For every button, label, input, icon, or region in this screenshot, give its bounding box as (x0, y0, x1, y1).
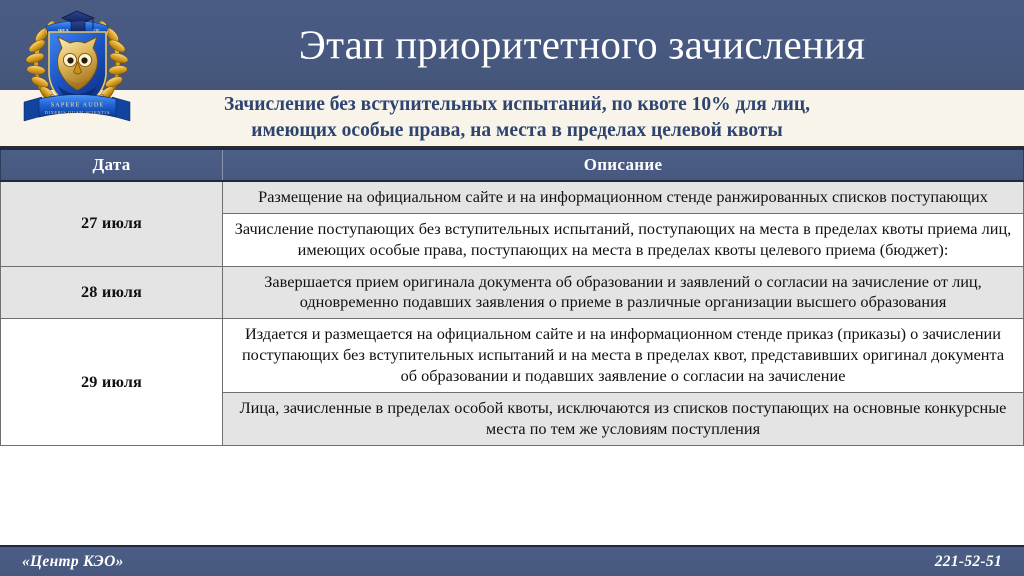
cell-description: Лица, зачисленные в пределах особой квот… (223, 392, 1024, 445)
subtitle-band: Зачисление без вступительных испытаний, … (0, 90, 1024, 148)
cell-description: Издается и размещается на официальном са… (223, 319, 1024, 393)
crest-motto-primary: SAPERE AUDE (51, 102, 105, 109)
table-row: 27 июляРазмещение на официальном сайте и… (1, 181, 1024, 213)
schedule-table-container: Дата Описание 27 июляРазмещение на офици… (0, 148, 1024, 545)
slide-header: ΨΙΛ ΣΕ (0, 0, 1024, 90)
cell-description: Зачисление поступающих без вступительных… (223, 213, 1024, 266)
cell-date: 28 июля (1, 266, 223, 319)
cell-description: Завершается прием оригинала документа об… (223, 266, 1024, 319)
table-head: Дата Описание (1, 149, 1024, 181)
column-header-date: Дата (1, 149, 223, 181)
column-header-description: Описание (223, 149, 1024, 181)
schedule-table: Дата Описание 27 июляРазмещение на офици… (0, 148, 1024, 446)
footer-organization-label: «Центр КЭО» (22, 553, 124, 571)
table-body: 27 июляРазмещение на официальном сайте и… (1, 181, 1024, 445)
university-crest-owl-icon: ΨΙΛ ΣΕ (18, 2, 136, 128)
table-row: 28 июляЗавершается прием оригинала докум… (1, 266, 1024, 319)
subtitle-text: Зачисление без вступительных испытаний, … (224, 92, 810, 143)
slide: ΨΙΛ ΣΕ (0, 0, 1024, 576)
crest-motto-secondary: DIXERIS QUAM SCIENTIA (45, 110, 111, 115)
cell-date: 29 июля (1, 319, 223, 445)
subtitle-line-2: имеющих особые права, на места в предела… (251, 120, 782, 141)
table-header-row: Дата Описание (1, 149, 1024, 181)
slide-footer: «Центр КЭО» 221-52-51 (0, 545, 1024, 576)
subtitle-line-1: Зачисление без вступительных испытаний, … (224, 94, 810, 115)
page-title: Этап приоритетного зачисления (0, 23, 1024, 66)
crest-motto-ribbon: SAPERE AUDE DIXERIS QUAM SCIENTIA (24, 95, 130, 122)
cell-description: Размещение на официальном сайте и на инф… (223, 181, 1024, 213)
cell-date: 27 июля (1, 181, 223, 266)
footer-phone-number: 221-52-51 (935, 553, 1002, 571)
table-row: 29 июляИздается и размещается на официал… (1, 319, 1024, 393)
